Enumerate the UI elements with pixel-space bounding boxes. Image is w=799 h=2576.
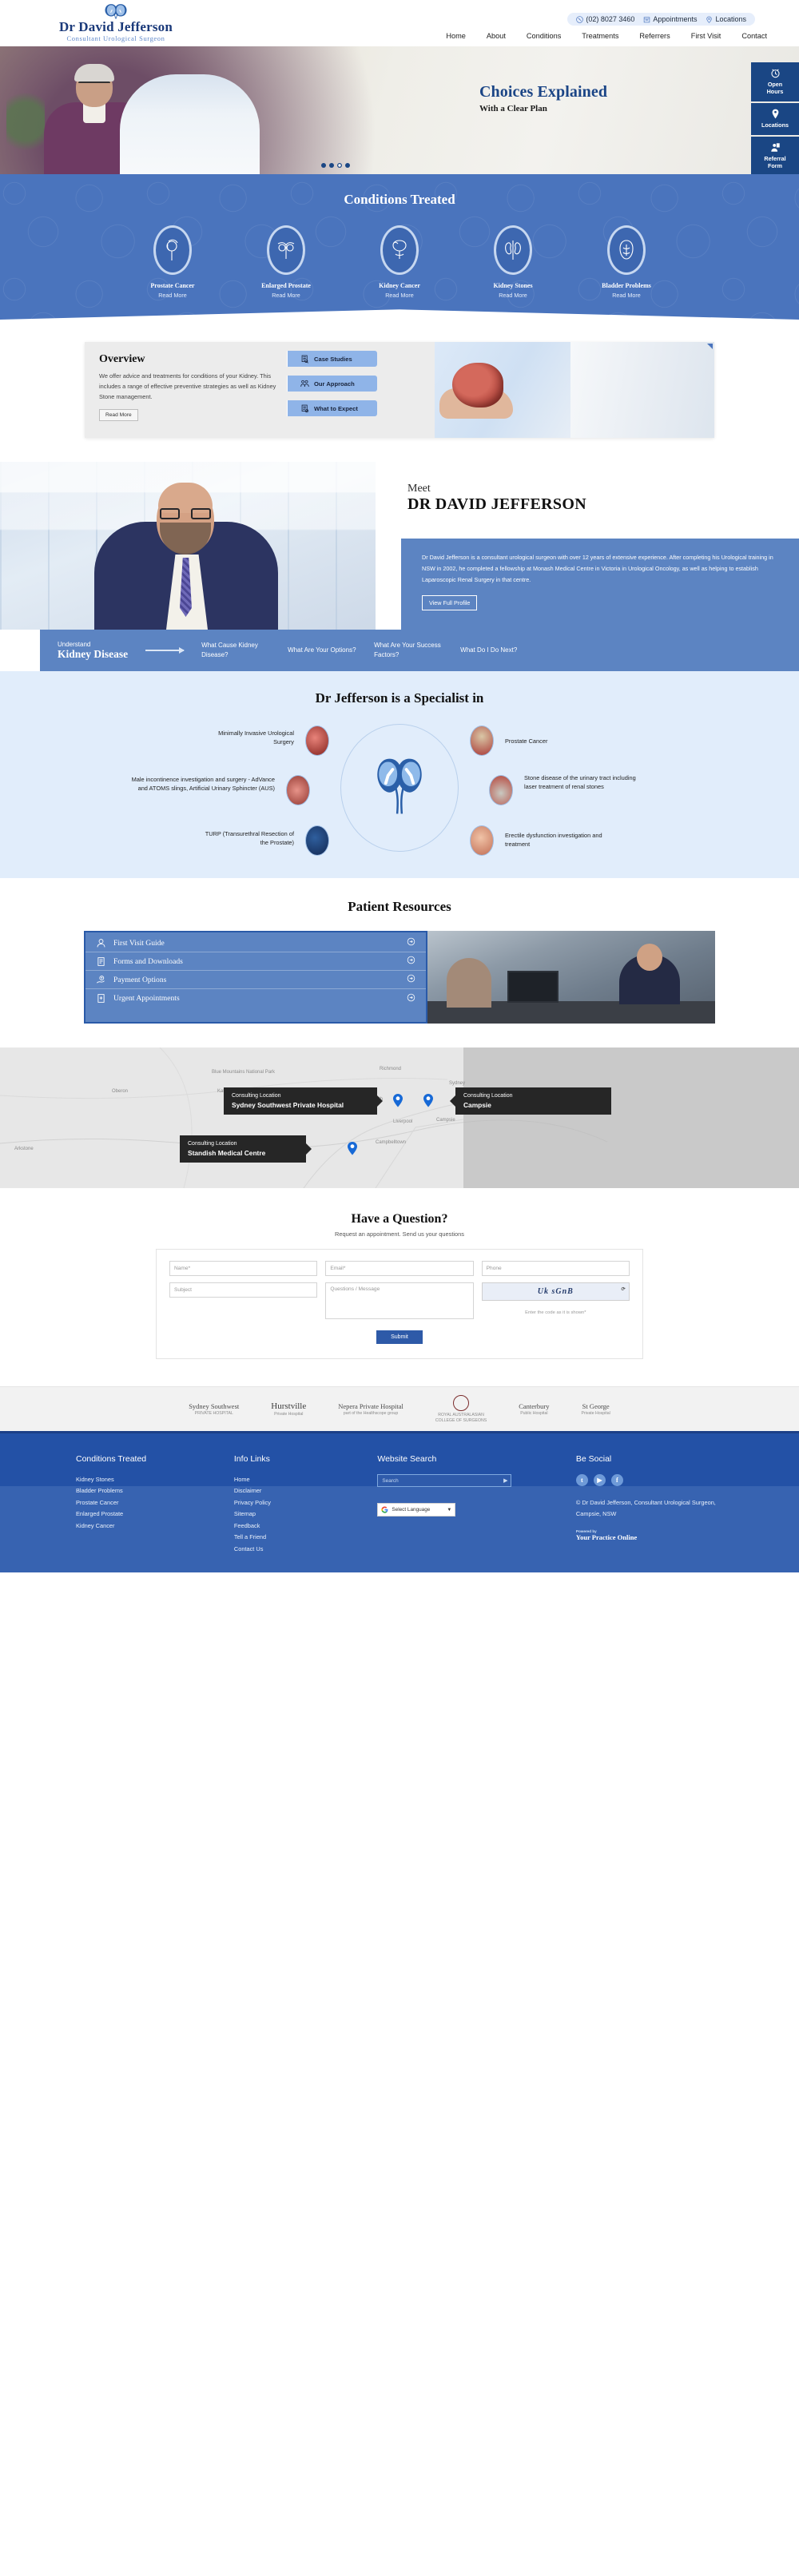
specialist-label-3: Male incontinence investigation and surg… <box>127 775 275 793</box>
understand-kicker: Understand <box>58 641 128 648</box>
subject-field[interactable]: Subject <box>169 1282 317 1298</box>
case-studies-icon <box>300 355 309 364</box>
map-pin-standish[interactable] <box>348 1142 357 1155</box>
callout-kicker: Consulting Location <box>188 1141 237 1147</box>
logo-subtitle: Consultant Urological Surgeon <box>40 34 192 42</box>
patient-resources-section: Patient Resources First Visit Guide <box>0 878 799 1047</box>
condition-name: Bladder Problems <box>582 282 670 289</box>
our-approach-icon <box>300 380 309 388</box>
arrow-circle-icon[interactable] <box>407 974 415 985</box>
captcha-refresh-icon[interactable]: ⟳ <box>621 1286 626 1292</box>
overview-tab-what-to-expect[interactable]: What to Expect <box>288 400 377 416</box>
condition-read-more[interactable]: Read More <box>242 292 330 299</box>
site-logo[interactable]: Dr David Jefferson Consultant Urological… <box>40 3 192 42</box>
specialist-node-2-icon <box>470 725 494 756</box>
email-field[interactable]: Email* <box>325 1261 473 1276</box>
quick-link-referral-line1: Referral <box>764 155 785 162</box>
phone-number: (02) 8027 3460 <box>586 15 634 23</box>
map-place-label: Sydney <box>449 1081 465 1086</box>
document-icon <box>96 956 106 967</box>
map-callout-campsie[interactable]: Consulting Location Campsie <box>455 1087 611 1115</box>
callout-kicker: Consulting Location <box>463 1093 513 1099</box>
hero-quick-links: Open Hours Locations Referral Form <box>751 62 799 174</box>
kidney-stones-icon <box>494 225 532 275</box>
footer-social-column: Be Social t ▶ f © Dr David Jefferson, Co… <box>576 1454 723 1555</box>
arrow-circle-icon[interactable] <box>407 937 415 948</box>
bladder-problems-icon <box>607 225 646 275</box>
footer-link-kidney-cancer[interactable]: Kidney Cancer <box>76 1521 234 1532</box>
twitter-icon[interactable]: t <box>576 1474 588 1486</box>
affiliate-sub: part of the Healthscope group <box>338 1411 403 1416</box>
callout-name: Standish Medical Centre <box>188 1148 298 1158</box>
footer-link-disclaimer[interactable]: Disclaimer <box>234 1485 377 1497</box>
condition-card-enlarged-prostate[interactable]: Enlarged Prostate Read More <box>242 225 330 299</box>
affiliate-sub: Public Hospital <box>519 1411 549 1416</box>
callout-kicker: Consulting Location <box>232 1093 281 1099</box>
quick-link-open-hours-line1: Open <box>768 81 782 88</box>
prostate-cancer-icon <box>153 225 192 275</box>
specialist-title: Dr Jefferson is a Specialist in <box>0 690 799 706</box>
resource-label: Urgent Appointments <box>113 994 407 1003</box>
conditions-section: Conditions Treated Prostate Cancer Read … <box>0 174 799 320</box>
affiliates-bar: Sydney Southwest PRIVATE HOSPITAL Hurstv… <box>0 1386 799 1431</box>
footer-link-sitemap[interactable]: Sitemap <box>234 1509 377 1520</box>
affiliate-name: Hurstville <box>271 1401 306 1411</box>
arrow-circle-icon[interactable] <box>407 993 415 1004</box>
contact-title: Have a Question? <box>0 1212 799 1226</box>
quick-link-locations[interactable]: Locations <box>751 103 799 135</box>
view-full-profile-button[interactable]: View Full Profile <box>422 595 477 610</box>
hero-background-image <box>0 46 799 174</box>
overview-tab-our-approach[interactable]: Our Approach <box>288 376 377 392</box>
patient-resources-list: First Visit Guide Forms and Downloads <box>84 931 427 1024</box>
affiliate-sub: Private Hospital <box>271 1412 306 1417</box>
resource-item-urgent-appointments[interactable]: Urgent Appointments <box>85 989 426 1008</box>
conditions-list: Prostate Cancer Read More Enlarged Prost… <box>0 225 799 299</box>
overview-corner-accent <box>707 344 713 349</box>
contact-form: Name* Subject Email* Questions / Message… <box>156 1249 643 1359</box>
consultation-photo <box>427 931 715 1024</box>
patient-resources-title: Patient Resources <box>0 899 799 915</box>
map-pin-sydney-southwest[interactable] <box>393 1094 403 1107</box>
map-pin-icon <box>771 109 780 119</box>
condition-card-bladder-problems[interactable]: Bladder Problems Read More <box>582 225 670 299</box>
condition-card-prostate-cancer[interactable]: Prostate Cancer Read More <box>129 225 217 299</box>
quick-link-open-hours-line2: Hours <box>767 88 784 95</box>
understand-heading-group: Understand Kidney Disease <box>58 641 128 661</box>
photo-monitor <box>507 971 559 1003</box>
appointments-label: Appointments <box>653 15 697 23</box>
footer-conditions-column: Conditions Treated Kidney Stones Bladder… <box>76 1454 234 1555</box>
footer-heading: Info Links <box>234 1454 377 1464</box>
slider-dot-3[interactable] <box>337 163 342 168</box>
map-place-label: Campsie <box>436 1118 455 1123</box>
specialist-node-4-icon <box>489 775 513 805</box>
overview-body: We offer advice and treatments for condi… <box>99 372 284 403</box>
locations-map[interactable]: Blue Mountains National Park Richmond Ob… <box>0 1047 799 1188</box>
map-callout-standish[interactable]: Consulting Location Standish Medical Cen… <box>180 1135 306 1163</box>
hero-patient-glasses <box>78 81 110 89</box>
contact-subtitle: Request an appointment. Send us your que… <box>0 1230 799 1238</box>
quick-link-referral-line2: Form <box>768 162 782 169</box>
enlarged-prostate-icon <box>267 225 305 275</box>
contact-column-3: Phone Uk sGnB ⟳ Enter the code as it is … <box>482 1261 630 1319</box>
overview-tab-label: What to Expect <box>314 405 358 412</box>
specialist-label-6: Erectile dysfunction investigation and t… <box>505 831 609 849</box>
map-pin-campsie[interactable] <box>423 1094 433 1107</box>
condition-card-kidney-cancer[interactable]: Kidney Cancer Read More <box>356 225 443 299</box>
overview-tab-label: Our Approach <box>314 380 355 388</box>
nav-item-contact[interactable]: Contact <box>741 32 767 40</box>
overview-tab-label: Case Studies <box>314 356 352 363</box>
photo-doctor-head <box>637 944 662 971</box>
slider-dot-4[interactable] <box>345 163 350 168</box>
affiliate-name: Sydney Southwest <box>189 1402 239 1410</box>
condition-card-kidney-stones[interactable]: Kidney Stones Read More <box>469 225 557 299</box>
footer-heading: Conditions Treated <box>76 1454 234 1464</box>
quick-link-locations-line1: Locations <box>761 121 789 129</box>
footer-info-column: Info Links Home Disclaimer Privacy Polic… <box>234 1454 377 1555</box>
referral-icon <box>770 142 781 153</box>
contact-column-2: Email* Questions / Message <box>325 1261 473 1319</box>
urgent-icon <box>96 993 106 1004</box>
hero-subtitle: With a Clear Plan <box>479 104 547 113</box>
language-label: Select Language <box>392 1507 430 1513</box>
footer-heading: Website Search <box>377 1454 576 1464</box>
hero-doctor-figure <box>120 74 260 174</box>
footer-link-home[interactable]: Home <box>234 1474 377 1485</box>
affiliate-canterbury[interactable]: Canterbury Public Hospital <box>519 1402 549 1416</box>
understand-question-4[interactable]: What Do I Do Next? <box>460 646 532 655</box>
condition-name: Enlarged Prostate <box>242 282 330 289</box>
nav-item-first-visit[interactable]: First Visit <box>691 32 721 40</box>
callout-name: Sydney Southwest Private Hospital <box>232 1100 369 1110</box>
meet-doctor-name: DR DAVID JEFFERSON <box>407 495 799 514</box>
locations-link[interactable]: Locations <box>706 15 746 23</box>
condition-read-more[interactable]: Read More <box>582 292 670 299</box>
specialist-node-6-icon <box>470 825 494 856</box>
clock-icon <box>770 68 781 78</box>
nav-item-about[interactable]: About <box>487 32 506 40</box>
affiliate-name: ROYAL AUSTRALASIAN <box>435 1413 487 1417</box>
affiliate-racs[interactable]: ROYAL AUSTRALASIAN COLLEGE OF SURGEONS <box>435 1395 487 1423</box>
footer-columns: Conditions Treated Kidney Stones Bladder… <box>76 1454 723 1555</box>
slider-dot-2[interactable] <box>329 163 334 168</box>
footer-link-prostate-cancer[interactable]: Prostate Cancer <box>76 1497 234 1509</box>
social-links: t ▶ f <box>576 1474 723 1486</box>
specialist-node-3-icon <box>286 775 310 805</box>
meet-bio-card: Dr David Jefferson is a consultant urolo… <box>401 539 799 634</box>
racs-seal-icon <box>453 1395 469 1411</box>
map-callout-sydney-southwest[interactable]: Consulting Location Sydney Southwest Pri… <box>224 1087 377 1115</box>
arrow-right-icon <box>145 650 184 651</box>
understand-question-1[interactable]: What Cause Kidney Disease? <box>201 641 273 660</box>
kidney-cancer-icon <box>380 225 419 275</box>
site-footer: Conditions Treated Kidney Stones Bladder… <box>0 1431 799 1572</box>
overview-doctor-coat <box>570 342 714 438</box>
logo-name: Dr David Jefferson <box>40 20 192 34</box>
resource-item-first-visit-guide[interactable]: First Visit Guide <box>85 934 426 952</box>
youtube-icon[interactable]: ▶ <box>594 1474 606 1486</box>
condition-read-more[interactable]: Read More <box>356 292 443 299</box>
kidneys-center-icon <box>365 753 434 821</box>
map-place-label: Richmond <box>380 1067 401 1071</box>
nav-item-referrers[interactable]: Referrers <box>639 32 670 40</box>
resource-label: Payment Options <box>113 976 407 984</box>
facebook-icon[interactable]: f <box>611 1474 623 1486</box>
affiliate-name: Nepera Private Hospital <box>338 1402 403 1410</box>
footer-heading: Be Social <box>576 1454 723 1464</box>
overview-kidney-model <box>452 363 503 407</box>
meet-kicker: Meet <box>407 483 799 495</box>
specialist-section: Dr Jefferson is a Specialist in Minimall… <box>0 671 799 878</box>
submit-button[interactable]: Submit <box>376 1330 423 1344</box>
callout-name: Campsie <box>463 1100 603 1110</box>
language-selector[interactable]: Select Language ▼ <box>377 1503 455 1517</box>
affiliate-hurstville[interactable]: Hurstville Private Hospital <box>271 1401 306 1417</box>
resource-label: Forms and Downloads <box>113 957 407 966</box>
overview-tabs: Case Studies Our Approach What to Expect <box>299 342 435 438</box>
page-root: Dr David Jefferson Consultant Urological… <box>0 0 799 1572</box>
map-place-label: Arkstone <box>14 1147 34 1151</box>
overview-heading: Overview <box>99 353 284 366</box>
conditions-title: Conditions Treated <box>0 192 799 208</box>
phone-icon <box>576 16 583 23</box>
map-place-label: Liverpool <box>393 1119 412 1124</box>
specialist-node-1-icon <box>305 725 329 756</box>
meet-doctor-section: Meet DR DAVID JEFFERSON Dr David Jeffers… <box>0 462 799 630</box>
captcha-image: Uk sGnB ⟳ <box>482 1282 630 1301</box>
understand-topic: Kidney Disease <box>58 648 128 661</box>
specialist-diagram: Minimally Invasive Urological Surgery Pr… <box>0 718 799 857</box>
footer-link-bladder-problems[interactable]: Bladder Problems <box>76 1485 234 1497</box>
site-header: Dr David Jefferson Consultant Urological… <box>0 0 799 46</box>
map-pin-icon <box>706 16 713 23</box>
affiliate-name: Canterbury <box>519 1402 549 1410</box>
contact-column-1: Name* Subject <box>169 1261 317 1319</box>
meet-bio-text: Dr David Jefferson is a consultant urolo… <box>422 552 788 586</box>
resource-item-forms-and-downloads[interactable]: Forms and Downloads <box>85 952 426 971</box>
payment-hand-icon <box>96 975 106 985</box>
contact-form-grid: Name* Subject Email* Questions / Message… <box>169 1261 630 1319</box>
understand-question-3[interactable]: What Are Your Success Factors? <box>374 641 446 660</box>
overview-tab-case-studies[interactable]: Case Studies <box>288 351 377 367</box>
quick-link-referral-form[interactable]: Referral Form <box>751 137 799 174</box>
overview-image-pane <box>435 342 714 438</box>
arrow-circle-icon[interactable] <box>407 956 415 967</box>
overview-text-pane: Overview We offer advice and treatments … <box>85 342 299 438</box>
quick-link-open-hours[interactable]: Open Hours <box>751 62 799 101</box>
search-submit-icon[interactable]: ▶ <box>500 1475 511 1486</box>
powered-by-brand: Your Practice Online <box>576 1533 723 1541</box>
specialist-label-1: Minimally Invasive Urological Surgery <box>206 729 294 746</box>
message-field[interactable]: Questions / Message <box>325 1282 473 1319</box>
overview-section: Overview We offer advice and treatments … <box>0 320 799 462</box>
footer-link-tell-a-friend[interactable]: Tell a Friend <box>234 1532 377 1543</box>
affiliate-sydney-southwest[interactable]: Sydney Southwest PRIVATE HOSPITAL <box>189 1402 239 1416</box>
hero-patient-hair <box>74 64 114 81</box>
footer-link-feedback[interactable]: Feedback <box>234 1521 377 1532</box>
hero-title: Choices Explained <box>479 83 607 101</box>
utility-bar: (02) 8027 3460 Appointments Locations <box>567 13 755 26</box>
user-icon <box>96 938 106 948</box>
specialist-node-5-icon <box>305 825 329 856</box>
condition-read-more[interactable]: Read More <box>129 292 217 299</box>
condition-read-more[interactable]: Read More <box>469 292 557 299</box>
calendar-icon <box>643 16 650 23</box>
doctor-portrait <box>0 462 376 630</box>
affiliate-st-george[interactable]: St George Private Hospital <box>581 1402 610 1416</box>
specialist-label-5: TURP (Transurethral Resection of the Pro… <box>202 829 294 847</box>
kidney-logo-icon <box>100 3 132 19</box>
meet-doctor-content: Meet DR DAVID JEFFERSON Dr David Jeffers… <box>376 462 799 630</box>
map-place-label: Oberon <box>112 1089 128 1094</box>
footer-link-kidney-stones[interactable]: Kidney Stones <box>76 1474 234 1485</box>
appointments-link[interactable]: Appointments <box>643 15 697 23</box>
nav-item-home[interactable]: Home <box>446 32 466 40</box>
slider-dot-1[interactable] <box>321 163 326 168</box>
footer-search-column: Website Search Search ▶ Select Language … <box>377 1454 576 1555</box>
captcha-hint: Enter the code as it is shown* <box>482 1310 630 1315</box>
affiliate-sub: PRIVATE HOSPITAL <box>189 1411 239 1416</box>
locations-label: Locations <box>715 15 746 23</box>
condition-name: Kidney Stones <box>469 282 557 289</box>
map-place-label: Campbelltown <box>376 1140 406 1145</box>
understand-strip: Understand Kidney Disease What Cause Kid… <box>40 630 799 671</box>
affiliate-nepean[interactable]: Nepera Private Hospital part of the Heal… <box>338 1402 403 1416</box>
photo-patient <box>447 958 491 1008</box>
condition-name: Prostate Cancer <box>129 282 217 289</box>
hero-plant <box>6 93 45 165</box>
understand-question-2[interactable]: What Are Your Options? <box>288 646 360 655</box>
specialist-label-4: Stone disease of the urinary tract inclu… <box>524 773 644 791</box>
map-place-label: Blue Mountains National Park <box>212 1070 275 1075</box>
name-field[interactable]: Name* <box>169 1261 317 1276</box>
what-to-expect-icon <box>300 404 309 413</box>
footer-search-input[interactable]: Search ▶ <box>377 1474 511 1487</box>
resource-label: First Visit Guide <box>113 939 407 948</box>
footer-link-contact-us[interactable]: Contact Us <box>234 1544 377 1555</box>
hero-slider-dots <box>321 163 350 168</box>
affiliate-name: St George <box>581 1402 610 1410</box>
affiliate-sub: Private Hospital <box>581 1411 610 1416</box>
condition-name: Kidney Cancer <box>356 282 443 289</box>
powered-by-block[interactable]: Powered by Your Practice Online <box>576 1529 723 1541</box>
nav-item-conditions[interactable]: Conditions <box>527 32 561 40</box>
chevron-down-icon: ▼ <box>447 1508 451 1513</box>
footer-link-privacy-policy[interactable]: Privacy Policy <box>234 1497 377 1509</box>
google-icon <box>381 1506 388 1513</box>
nav-item-treatments[interactable]: Treatments <box>582 32 618 40</box>
overview-read-more-button[interactable]: Read More <box>99 409 138 421</box>
captcha-code: Uk sGnB <box>538 1287 574 1296</box>
specialist-label-2: Prostate Cancer <box>505 737 609 745</box>
phone-field[interactable]: Phone <box>482 1261 630 1276</box>
affiliate-sub: COLLEGE OF SURGEONS <box>435 1418 487 1423</box>
overview-card: Overview We offer advice and treatments … <box>85 342 714 438</box>
footer-copyright: © Dr David Jefferson, Consultant Urologi… <box>576 1497 723 1519</box>
phone-link[interactable]: (02) 8027 3460 <box>576 15 634 23</box>
resource-item-payment-options[interactable]: Payment Options <box>85 971 426 989</box>
patient-resources-row: First Visit Guide Forms and Downloads <box>84 931 715 1024</box>
hero-banner: Choices Explained With a Clear Plan Open… <box>0 46 799 174</box>
footer-link-enlarged-prostate[interactable]: Enlarged Prostate <box>76 1509 234 1520</box>
portrait-glasses <box>160 508 211 519</box>
main-navigation: Home About Conditions Treatments Referre… <box>446 32 767 40</box>
contact-section: Have a Question? Request an appointment.… <box>0 1188 799 1386</box>
